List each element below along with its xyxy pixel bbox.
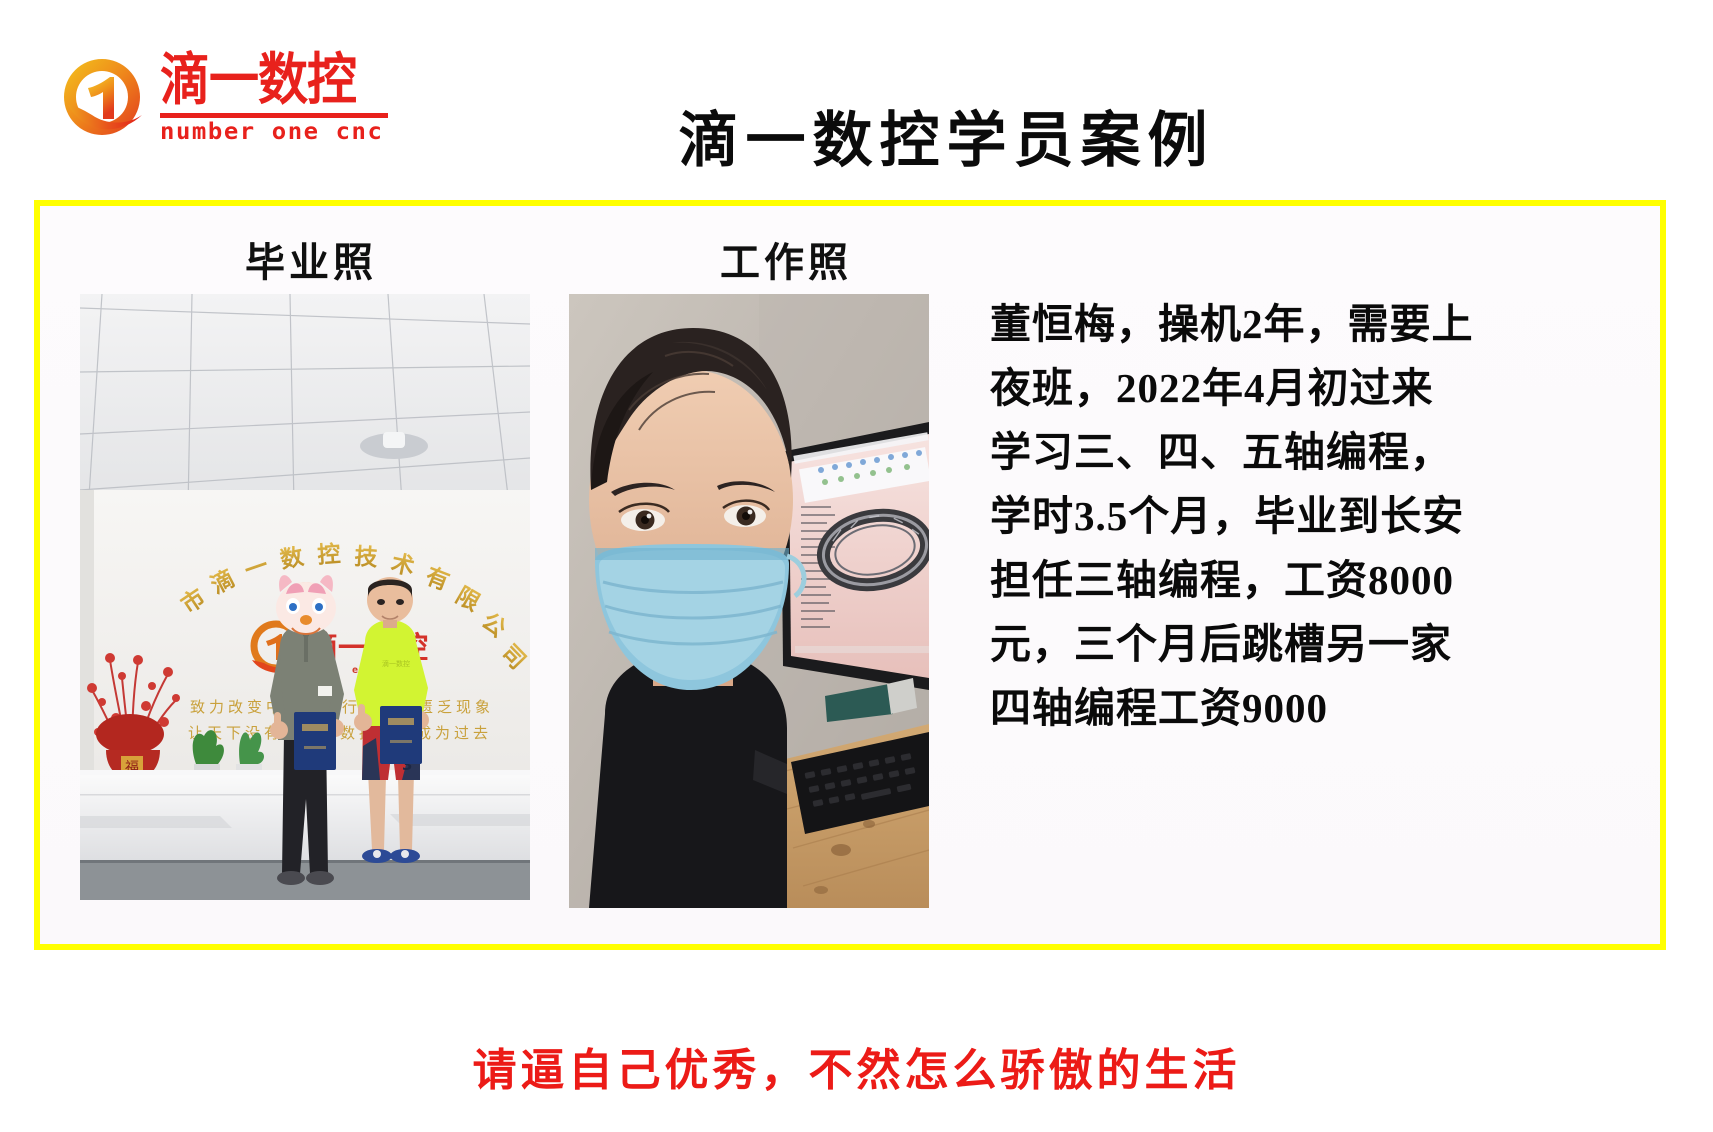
student-bio: 董恒梅，操机2年，需要上 夜班，2022年4月初过来 学习三、四、五轴编程， 学… bbox=[990, 292, 1590, 740]
work-photo-caption: 工作照 bbox=[720, 240, 852, 286]
content-frame: 毕业照 工作照 bbox=[34, 200, 1666, 950]
brand-name-cn: 滴一数控 bbox=[160, 50, 388, 108]
bio-line: 董恒梅，操机2年，需要上 bbox=[990, 292, 1590, 356]
bio-line: 担任三轴编程，工资8000 bbox=[990, 548, 1590, 612]
bio-line: 夜班，2022年4月初过来 bbox=[990, 356, 1590, 420]
svg-text:滴一数控: 滴一数控 bbox=[382, 659, 410, 668]
page-title: 滴一数控学员案例 bbox=[0, 104, 1713, 178]
bio-line: 学习三、四、五轴编程， bbox=[990, 420, 1590, 484]
bio-line: 学时3.5个月，毕业到长安 bbox=[990, 484, 1590, 548]
bio-line: 元，三个月后跳槽另一家 bbox=[990, 612, 1590, 676]
motivational-slogan: 请逼自己优秀，不然怎么骄傲的生活 bbox=[0, 1044, 1713, 1098]
svg-text:控: 控 bbox=[317, 540, 342, 569]
work-photo bbox=[569, 294, 929, 908]
svg-text:技: 技 bbox=[354, 544, 380, 572]
graduation-photo-caption: 毕业照 bbox=[245, 240, 377, 286]
bio-line: 四轴编程工资9000 bbox=[990, 676, 1590, 740]
graduation-photo: 市 滴 一 数 控 技 术 有 限 公 司 滴一数控 er one cnc 致力… bbox=[80, 294, 530, 900]
